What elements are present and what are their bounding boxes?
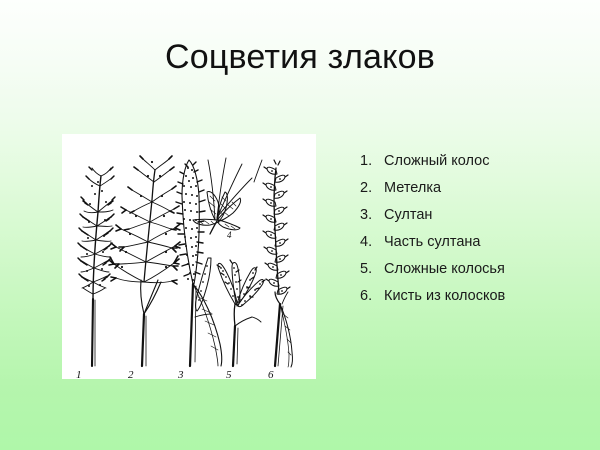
list-item-number: 3. [360,202,384,229]
list-item-label: Сложный колос [384,148,489,175]
list-item: 5. Сложные колосья [360,256,585,283]
list-item-label: Сложные колосья [384,256,505,283]
list-item-label: Метелка [384,175,441,202]
list-item-number: 4. [360,229,384,256]
slide-canvas: Соцветия злаков [0,0,600,450]
list-item-label: Часть султана [384,229,480,256]
list-item: 1. Сложный колос [360,148,585,175]
figure-number-5: 5 [226,369,232,379]
figure-inline-label-4: 4 [227,230,232,240]
list-item-number: 5. [360,256,384,283]
figure-number-2: 2 [128,369,134,379]
page-title: Соцветия злаков [0,36,600,78]
list-item-label: Кисть из колосков [384,283,505,310]
figure-number-6: 6 [268,369,274,379]
inflorescence-legend-list: 1. Сложный колос 2. Метелка 3. Султан 4.… [360,148,585,310]
list-item: 6. Кисть из колосков [360,283,585,310]
list-item: 3. Султан [360,202,585,229]
list-item: 4. Часть султана [360,229,585,256]
list-item-number: 1. [360,148,384,175]
figure-number-1: 1 [76,369,82,379]
list-item-number: 2. [360,175,384,202]
illustration-svg: 4 [62,134,316,379]
list-item: 2. Метелка [360,175,585,202]
grass-inflorescence-illustration: 4 [62,134,316,379]
figure-number-3: 3 [177,369,184,379]
list-item-label: Султан [384,202,432,229]
list-item-number: 6. [360,283,384,310]
